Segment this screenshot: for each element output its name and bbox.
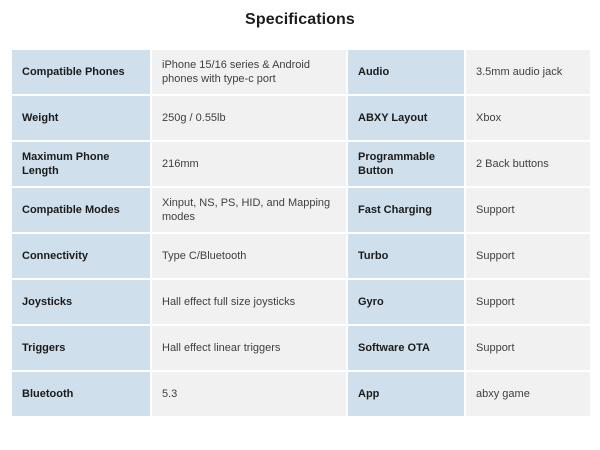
spec-value: 2 Back buttons <box>466 142 590 186</box>
spec-label-text: Joysticks <box>22 295 140 309</box>
spec-value-text: Type C/Bluetooth <box>162 249 336 263</box>
spec-label-text: Weight <box>22 111 140 125</box>
spec-label-text: Connectivity <box>22 249 140 263</box>
spec-label: Gyro <box>348 280 464 324</box>
table-row: Maximum Phone Length 216mm Programmable … <box>12 142 590 186</box>
spec-value: abxy game <box>466 372 590 416</box>
page-title: Specifications <box>0 0 600 31</box>
spec-value-text: 3.5mm audio jack <box>476 65 580 79</box>
spec-label-text: Turbo <box>358 249 454 263</box>
spec-label-text: Maximum Phone Length <box>22 150 140 178</box>
spec-label: Turbo <box>348 234 464 278</box>
spec-label-text: Fast Charging <box>358 203 454 217</box>
spec-label-text: App <box>358 387 454 401</box>
spec-value: Type C/Bluetooth <box>152 234 346 278</box>
spec-label: Software OTA <box>348 326 464 370</box>
spec-label-text: Programmable Button <box>358 150 454 178</box>
spec-value-text: Support <box>476 249 580 263</box>
spec-label: Fast Charging <box>348 188 464 232</box>
spec-value: Support <box>466 234 590 278</box>
spec-label: Programmable Button <box>348 142 464 186</box>
spec-label-text: Software OTA <box>358 341 454 355</box>
specifications-page: Specifications Compatible Phones iPhone … <box>0 0 600 450</box>
table-row: Joysticks Hall effect full size joystick… <box>12 280 590 324</box>
spec-value-text: 2 Back buttons <box>476 157 580 171</box>
spec-value: Hall effect full size joysticks <box>152 280 346 324</box>
spec-value: 216mm <box>152 142 346 186</box>
spec-label: Connectivity <box>12 234 150 278</box>
spec-label-text: Audio <box>358 65 454 79</box>
spec-label-text: Compatible Modes <box>22 203 140 217</box>
spec-label-text: Bluetooth <box>22 387 140 401</box>
spec-value-text: iPhone 15/16 series & Android phones wit… <box>162 58 336 86</box>
spec-value: 250g / 0.55lb <box>152 96 346 140</box>
spec-label-text: ABXY Layout <box>358 111 454 125</box>
spec-label-text: Compatible Phones <box>22 65 140 79</box>
specifications-table-body: Compatible Phones iPhone 15/16 series & … <box>12 50 590 416</box>
spec-label: Weight <box>12 96 150 140</box>
table-row: Connectivity Type C/Bluetooth Turbo Supp… <box>12 234 590 278</box>
spec-value-text: 250g / 0.55lb <box>162 111 336 125</box>
spec-label: Compatible Modes <box>12 188 150 232</box>
spec-label: ABXY Layout <box>348 96 464 140</box>
spec-value-text: 5.3 <box>162 387 336 401</box>
spec-value-text: Support <box>476 203 580 217</box>
spec-value-text: Xbox <box>476 111 580 125</box>
spec-value-text: Xinput, NS, PS, HID, and Mapping modes <box>162 196 336 224</box>
table-row: Compatible Phones iPhone 15/16 series & … <box>12 50 590 94</box>
spec-label: Joysticks <box>12 280 150 324</box>
spec-value: Xbox <box>466 96 590 140</box>
spec-value: 3.5mm audio jack <box>466 50 590 94</box>
specifications-table: Compatible Phones iPhone 15/16 series & … <box>10 48 592 418</box>
spec-value: Support <box>466 326 590 370</box>
spec-value: 5.3 <box>152 372 346 416</box>
spec-label-text: Triggers <box>22 341 140 355</box>
spec-value: Support <box>466 280 590 324</box>
spec-value: Hall effect linear triggers <box>152 326 346 370</box>
spec-label: Audio <box>348 50 464 94</box>
spec-label: Triggers <box>12 326 150 370</box>
table-row: Weight 250g / 0.55lb ABXY Layout Xbox <box>12 96 590 140</box>
spec-label: App <box>348 372 464 416</box>
spec-value-text: abxy game <box>476 387 580 401</box>
spec-label: Maximum Phone Length <box>12 142 150 186</box>
table-row: Compatible Modes Xinput, NS, PS, HID, an… <box>12 188 590 232</box>
table-row: Bluetooth 5.3 App abxy game <box>12 372 590 416</box>
spec-value: iPhone 15/16 series & Android phones wit… <box>152 50 346 94</box>
spec-value-text: Hall effect full size joysticks <box>162 295 336 309</box>
spec-value-text: Hall effect linear triggers <box>162 341 336 355</box>
spec-value-text: 216mm <box>162 157 336 171</box>
spec-value: Support <box>466 188 590 232</box>
spec-label-text: Gyro <box>358 295 454 309</box>
spec-label: Bluetooth <box>12 372 150 416</box>
spec-label: Compatible Phones <box>12 50 150 94</box>
table-row: Triggers Hall effect linear triggers Sof… <box>12 326 590 370</box>
spec-value: Xinput, NS, PS, HID, and Mapping modes <box>152 188 346 232</box>
spec-value-text: Support <box>476 295 580 309</box>
spec-value-text: Support <box>476 341 580 355</box>
